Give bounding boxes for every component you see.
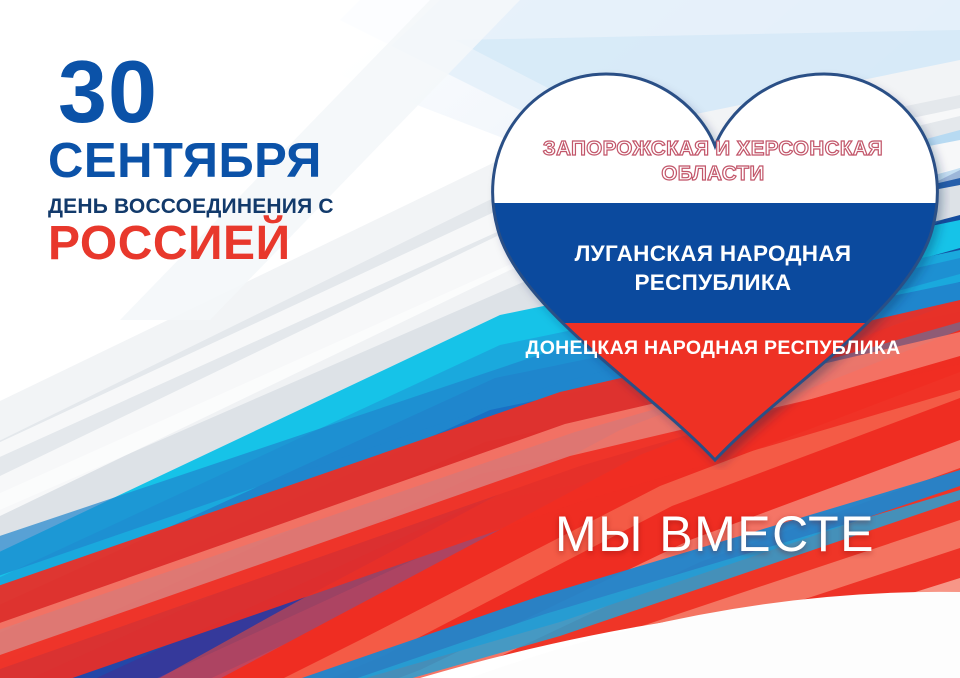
event-subtitle: ДЕНЬ ВОССОЕДИНЕНИЯ С xyxy=(48,195,388,218)
heart-emblem xyxy=(480,60,950,470)
country-name: РОССИЕЙ xyxy=(48,220,388,268)
month-name: СЕНТЯБРЯ xyxy=(48,137,388,186)
headline-block: 30 СЕНТЯБРЯ ДЕНЬ ВОССОЕДИНЕНИЯ С РОССИЕЙ xyxy=(48,52,388,268)
slogan-text: МЫ ВМЕСТЕ xyxy=(500,505,930,563)
day-number: 30 xyxy=(58,52,388,133)
poster-canvas: 30 СЕНТЯБРЯ ДЕНЬ ВОССОЕДИНЕНИЯ С РОССИЕЙ xyxy=(0,0,960,678)
heart-flag-graphic xyxy=(480,60,950,470)
